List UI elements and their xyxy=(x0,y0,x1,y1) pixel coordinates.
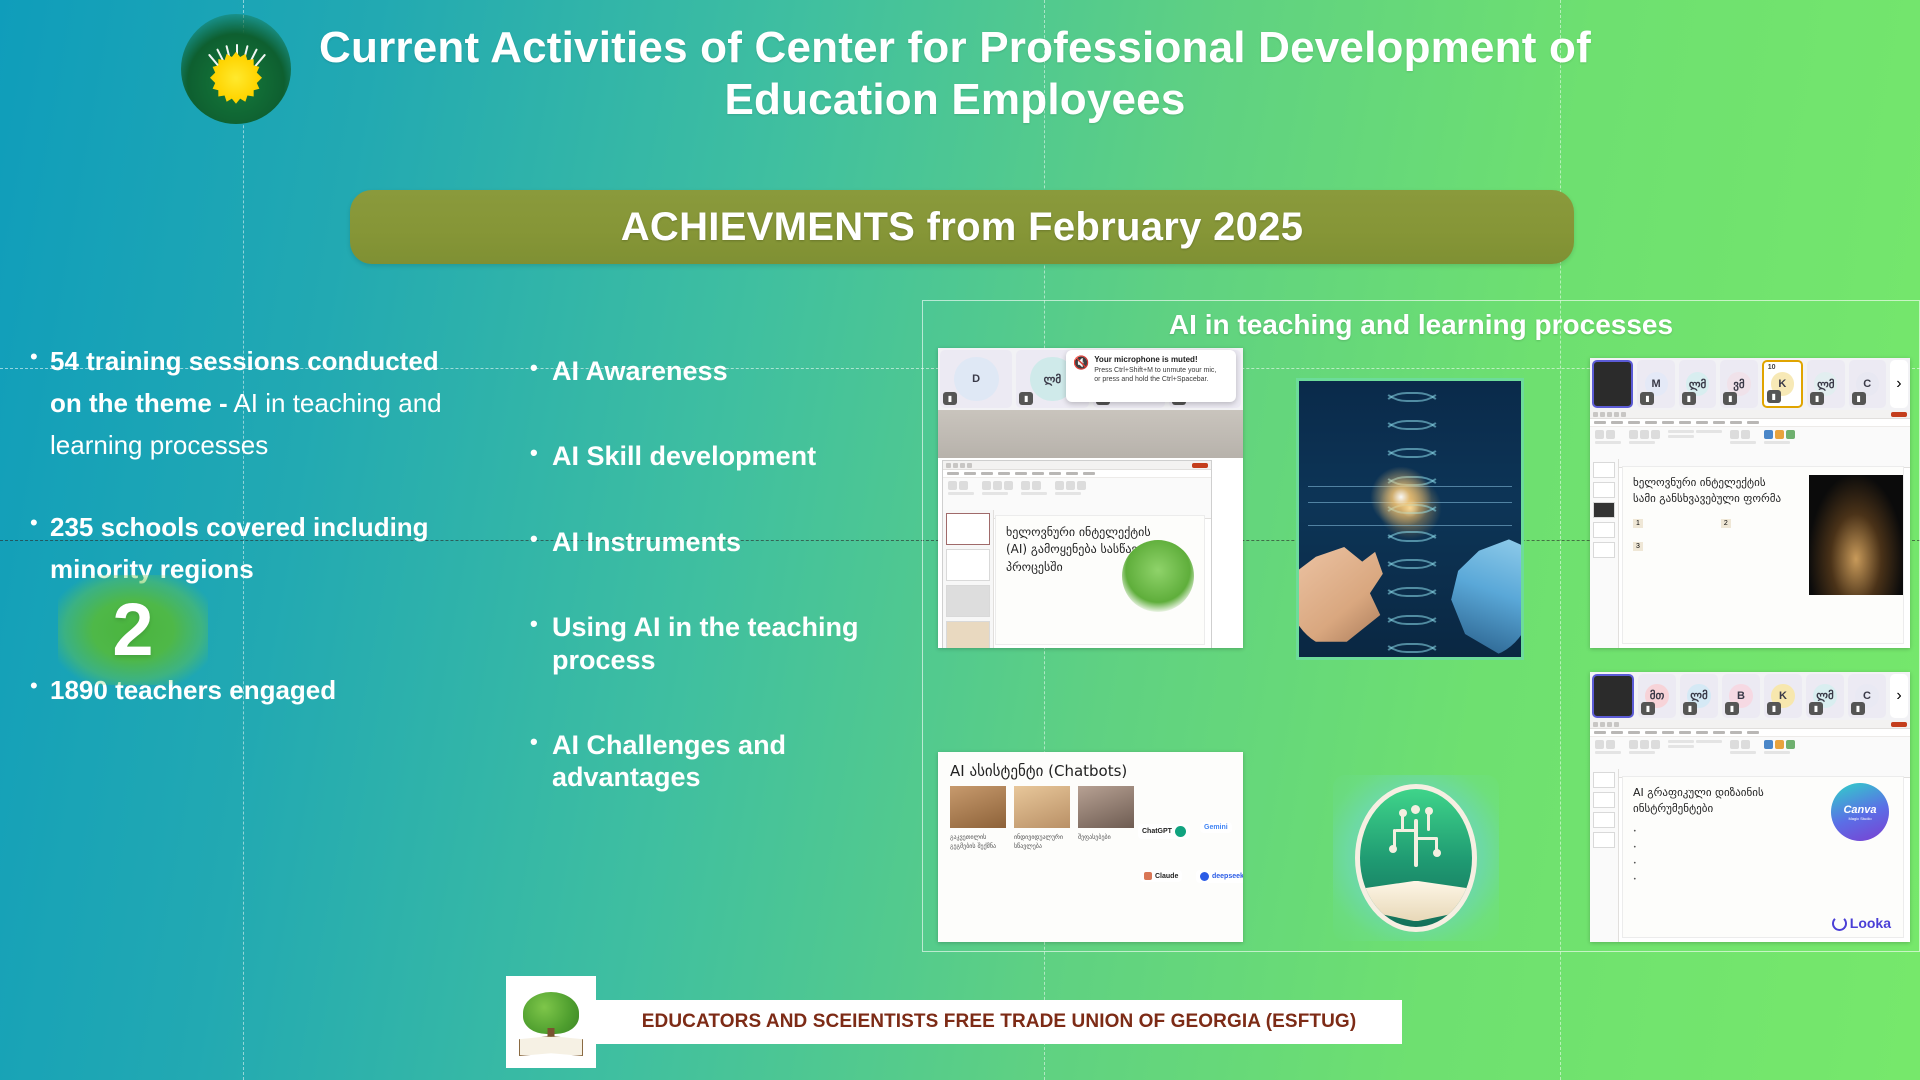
mic-muted-icon: ▮ xyxy=(1851,702,1865,715)
gemini-logo: Gemini xyxy=(1200,822,1232,833)
avatar-initials: ვმ xyxy=(1733,378,1744,391)
open-book-icon xyxy=(519,1036,583,1056)
topic-label: AI Skill development xyxy=(552,440,816,472)
record-button xyxy=(1891,412,1907,417)
bullet-dot-icon: • xyxy=(30,506,50,590)
human-robot-hands-dna-image xyxy=(1296,378,1524,660)
screenshot-teams-powerpoint-canva-looka: მთ▮ ლმ▮ B▮ K▮ ლმ▮ C▮ › AI გრაფიკული დიზა… xyxy=(1590,672,1910,942)
mic-muted-icon: ▮ xyxy=(1641,702,1655,715)
bullet-dot-icon: • xyxy=(530,611,552,676)
self-video-tile xyxy=(1592,360,1633,408)
ppt-ribbon xyxy=(1590,737,1910,778)
bullet-dot-icon: • xyxy=(30,669,50,711)
bullet-dot-icon: • xyxy=(530,526,552,558)
mic-muted-icon: ▮ xyxy=(1683,702,1697,715)
slide-thumbnail[interactable] xyxy=(946,585,990,617)
middle-bullet-list: •AI Awareness •AI Skill development •AI … xyxy=(530,355,930,847)
mic-muted-icon: ▮ xyxy=(943,392,957,405)
caption: ინდივიდუალური სწავლება xyxy=(1014,833,1070,851)
cpd-sunrise-book-logo xyxy=(181,14,291,124)
ppt-slide-thumbnails[interactable] xyxy=(1590,769,1619,942)
avatar-initials: K xyxy=(1778,378,1786,390)
avatar-initials: B xyxy=(1737,690,1745,702)
slide-header: Current Activities of Center for Profess… xyxy=(0,0,1920,168)
deepseek-logo: deepseek xyxy=(1196,870,1243,883)
self-video-tile xyxy=(1592,674,1634,718)
logo-oval xyxy=(1355,784,1477,932)
claude-label: Claude xyxy=(1155,873,1178,880)
screenshot-chatbots-slide: AI ასისტენტი (Chatbots) გაკვეთილის გეგმე… xyxy=(938,752,1243,942)
canva-label: Canva xyxy=(1843,804,1876,816)
avatar-initials: C xyxy=(1863,378,1871,390)
avatar-initials: ლმ xyxy=(1817,378,1834,391)
list-item: •AI Skill development xyxy=(530,440,930,472)
humanoid-robots-image xyxy=(1809,475,1903,595)
bullet-dot-icon: • xyxy=(530,355,552,387)
ppt-titlebar xyxy=(1590,410,1910,419)
list-number: 1 xyxy=(1633,519,1643,528)
avatar-initials: C xyxy=(1863,690,1871,702)
mic-muted-toast: 🔇 Your microphone is muted! Press Ctrl+S… xyxy=(1066,350,1236,402)
achievements-label: ACHIEVMENTS from February 2025 xyxy=(621,205,1304,250)
mic-muted-icon: ▮ xyxy=(1682,392,1696,405)
list-item: •AI Awareness xyxy=(530,355,930,387)
slide-thumbnail[interactable] xyxy=(1593,542,1615,558)
slide-thumbnail[interactable] xyxy=(1593,792,1615,808)
screenshot-teams-meeting-powerpoint: D▮ ლმ▮ C▮ S▮ 🔇 Your microphone is muted!… xyxy=(938,348,1243,648)
avatar: D xyxy=(954,357,999,402)
next-participants-button[interactable]: › xyxy=(1890,360,1908,408)
mic-muted-icon: ▮ xyxy=(1809,702,1823,715)
chatgpt-label: ChatGPT xyxy=(1142,828,1172,835)
list-item: •AI Instruments xyxy=(530,526,930,558)
mic-muted-icon: ▮ xyxy=(1723,392,1737,405)
chatbot-illustration xyxy=(1078,786,1134,828)
caption: გაკვეთილის გეგმების შექმნა xyxy=(950,833,1006,851)
avatar-initials: ლმ xyxy=(1816,689,1833,702)
list-item: •Using AI in the teaching process xyxy=(530,611,930,676)
avatar-initials: M xyxy=(1652,378,1661,390)
slide-thumbnail[interactable] xyxy=(1593,832,1615,848)
slide-heading-line1: ხელოვნური ინტელექტის xyxy=(1006,524,1194,541)
record-button xyxy=(1192,463,1208,468)
participant-tile: ლმ▮ xyxy=(1680,674,1718,718)
ppt-slide-thumbnails[interactable] xyxy=(943,510,994,648)
slide-thumbnail[interactable] xyxy=(1593,482,1615,498)
page-title: Current Activities of Center for Profess… xyxy=(290,22,1620,126)
ppt-menubar xyxy=(1590,419,1910,427)
ppt-slide-thumbnails[interactable] xyxy=(1590,459,1619,648)
ppt-menubar xyxy=(1590,729,1910,737)
right-panel-title: AI in teaching and learning processes xyxy=(923,309,1919,341)
screenshot-teams-powerpoint-robots: M▮ ლმ▮ ვმ▮ 10 K▮ ლმ▮ C▮ › ხელოვნური ინტე… xyxy=(1590,358,1910,648)
avatar-initials: მთ xyxy=(1650,689,1665,702)
slide-thumbnail[interactable] xyxy=(1593,522,1615,538)
gemini-label: Gemini xyxy=(1204,824,1228,831)
participant-tile: ლმ▮ xyxy=(1807,360,1844,408)
next-participants-button[interactable]: › xyxy=(1890,674,1908,718)
topic-label: AI Awareness xyxy=(552,355,728,387)
canva-logo: Canva Magic Studio xyxy=(1831,783,1889,841)
list-number: 2 xyxy=(1721,519,1731,528)
logo-ring xyxy=(513,982,589,1062)
circuit-tree-icon xyxy=(1381,803,1451,873)
participant-tile: ლმ▮ xyxy=(1806,674,1844,718)
tree-logo-watermark xyxy=(1122,540,1194,612)
slide-thumbnail[interactable] xyxy=(946,621,990,648)
list-number: 3 xyxy=(1633,542,1643,551)
slide-number-badge: 2 xyxy=(58,575,208,685)
mic-muted-icon: ▮ xyxy=(1019,392,1033,405)
looka-icon xyxy=(1832,916,1847,931)
avatar-initials: K xyxy=(1779,690,1787,702)
mic-muted-icon: ▮ xyxy=(1767,702,1781,715)
toast-body-line2: or press and hold the Ctrl+Spacebar. xyxy=(1094,375,1216,384)
slide-thumbnail[interactable] xyxy=(1593,772,1615,788)
ppt-titlebar xyxy=(1590,720,1910,729)
spark-glow xyxy=(1366,462,1436,532)
bullet-dot-icon: • xyxy=(530,729,552,794)
caption: შეფასებები xyxy=(1078,833,1134,851)
ai-circuit-tree-book-logo xyxy=(1333,775,1499,941)
canva-sublabel: Magic Studio xyxy=(1848,816,1871,821)
slide-thumbnail[interactable] xyxy=(946,513,990,545)
chatbot-illustration xyxy=(1014,786,1070,828)
ppt-ribbon xyxy=(1590,427,1910,468)
participant-tile: K▮ xyxy=(1764,674,1802,718)
slide-thumbnail[interactable] xyxy=(946,549,990,581)
avatar-initials: ლმ xyxy=(1044,373,1061,386)
participant-tile: D▮ xyxy=(940,350,1012,408)
participant-tile: ლმ▮ xyxy=(1679,360,1716,408)
open-book-icon xyxy=(1364,881,1468,921)
chatgpt-logo: ChatGPT xyxy=(1138,824,1190,839)
slide-thumbnail[interactable] xyxy=(1593,502,1615,518)
slide-number: 2 xyxy=(112,593,153,667)
participant-tile: C▮ xyxy=(1848,674,1886,718)
powerpoint-window: ხელოვნური ინტელექტის (AI) გამოყენება სას… xyxy=(942,460,1212,648)
bullet-dot-icon: • xyxy=(30,340,50,466)
avatar-initials: ლმ xyxy=(1689,378,1706,391)
participant-tile: ვმ▮ xyxy=(1720,360,1757,408)
claude-logo: Claude xyxy=(1140,870,1182,882)
avatar-initials: D xyxy=(972,373,980,385)
slide-heading: AI ასისტენტი (Chatbots) xyxy=(938,752,1243,786)
mic-muted-icon: ▮ xyxy=(1767,390,1781,403)
achievements-banner: ACHIEVMENTS from February 2025 xyxy=(350,190,1574,264)
ppt-slide-canvas: ხელოვნური ინტელექტის სამი განსხვავებული … xyxy=(1622,466,1904,644)
ppt-slide-canvas: ხელოვნური ინტელექტის (AI) გამოყენება სას… xyxy=(995,515,1205,645)
footer-banner: EDUCATORS AND SCEIENTISTS FREE TRADE UNI… xyxy=(596,1000,1402,1044)
participant-tile: M▮ xyxy=(1637,360,1674,408)
powerpoint-window: AI გრაფიკული დიზაინის ინსტრუმენტები • ​ … xyxy=(1590,720,1910,942)
mic-muted-icon: ▮ xyxy=(1852,392,1866,405)
chatgpt-icon xyxy=(1175,826,1186,837)
active-speaker-tile: 10 K▮ xyxy=(1762,360,1803,408)
ppt-titlebar xyxy=(943,461,1211,470)
speaker-count-badge: 10 xyxy=(1768,364,1776,371)
slide-thumbnail[interactable] xyxy=(1593,462,1615,478)
toast-title: Your microphone is muted! xyxy=(1094,355,1216,366)
claude-icon xyxy=(1144,872,1152,880)
deepseek-icon xyxy=(1200,872,1209,881)
looka-label: Looka xyxy=(1850,915,1891,931)
deepseek-label: deepseek xyxy=(1212,873,1243,880)
ppt-slide-canvas: AI გრაფიკული დიზაინის ინსტრუმენტები • ​ … xyxy=(1622,776,1904,938)
looka-logo: Looka xyxy=(1832,915,1891,931)
ppt-menubar xyxy=(943,470,1211,478)
record-button xyxy=(1891,722,1907,727)
topic-label: Using AI in the teaching process xyxy=(552,611,930,676)
participant-tile: B▮ xyxy=(1722,674,1760,718)
left-bullet-list: • 54 training sessions conducted on the … xyxy=(30,340,470,751)
mic-muted-icon: ▮ xyxy=(1810,392,1824,405)
mic-muted-icon: ▮ xyxy=(1725,702,1739,715)
toast-body-line1: Press Ctrl+Shift+M to unmute your mic, xyxy=(1094,366,1216,375)
chatbot-illustration xyxy=(950,786,1006,828)
powerpoint-window: ხელოვნური ინტელექტის სამი განსხვავებული … xyxy=(1590,410,1910,648)
mic-muted-icon: ▮ xyxy=(1640,392,1654,405)
footer-label: EDUCATORS AND SCEIENTISTS FREE TRADE UNI… xyxy=(642,1011,1357,1033)
topic-label: AI Instruments xyxy=(552,526,741,558)
mic-off-icon: 🔇 xyxy=(1073,355,1089,397)
slide-thumbnail[interactable] xyxy=(1593,812,1615,828)
avatar-initials: ლმ xyxy=(1690,689,1707,702)
esftug-tree-book-logo xyxy=(506,976,596,1068)
list-item: • 54 training sessions conducted on the … xyxy=(30,340,470,466)
participant-tile: მთ▮ xyxy=(1638,674,1676,718)
bullet-dot-icon: • xyxy=(530,440,552,472)
list-item: •AI Challenges and advantages xyxy=(530,729,930,794)
topic-label: AI Challenges and advantages xyxy=(552,729,930,794)
participant-tile: C▮ xyxy=(1849,360,1886,408)
bullet-bold-text: 235 schools covered including minority r… xyxy=(50,512,429,584)
